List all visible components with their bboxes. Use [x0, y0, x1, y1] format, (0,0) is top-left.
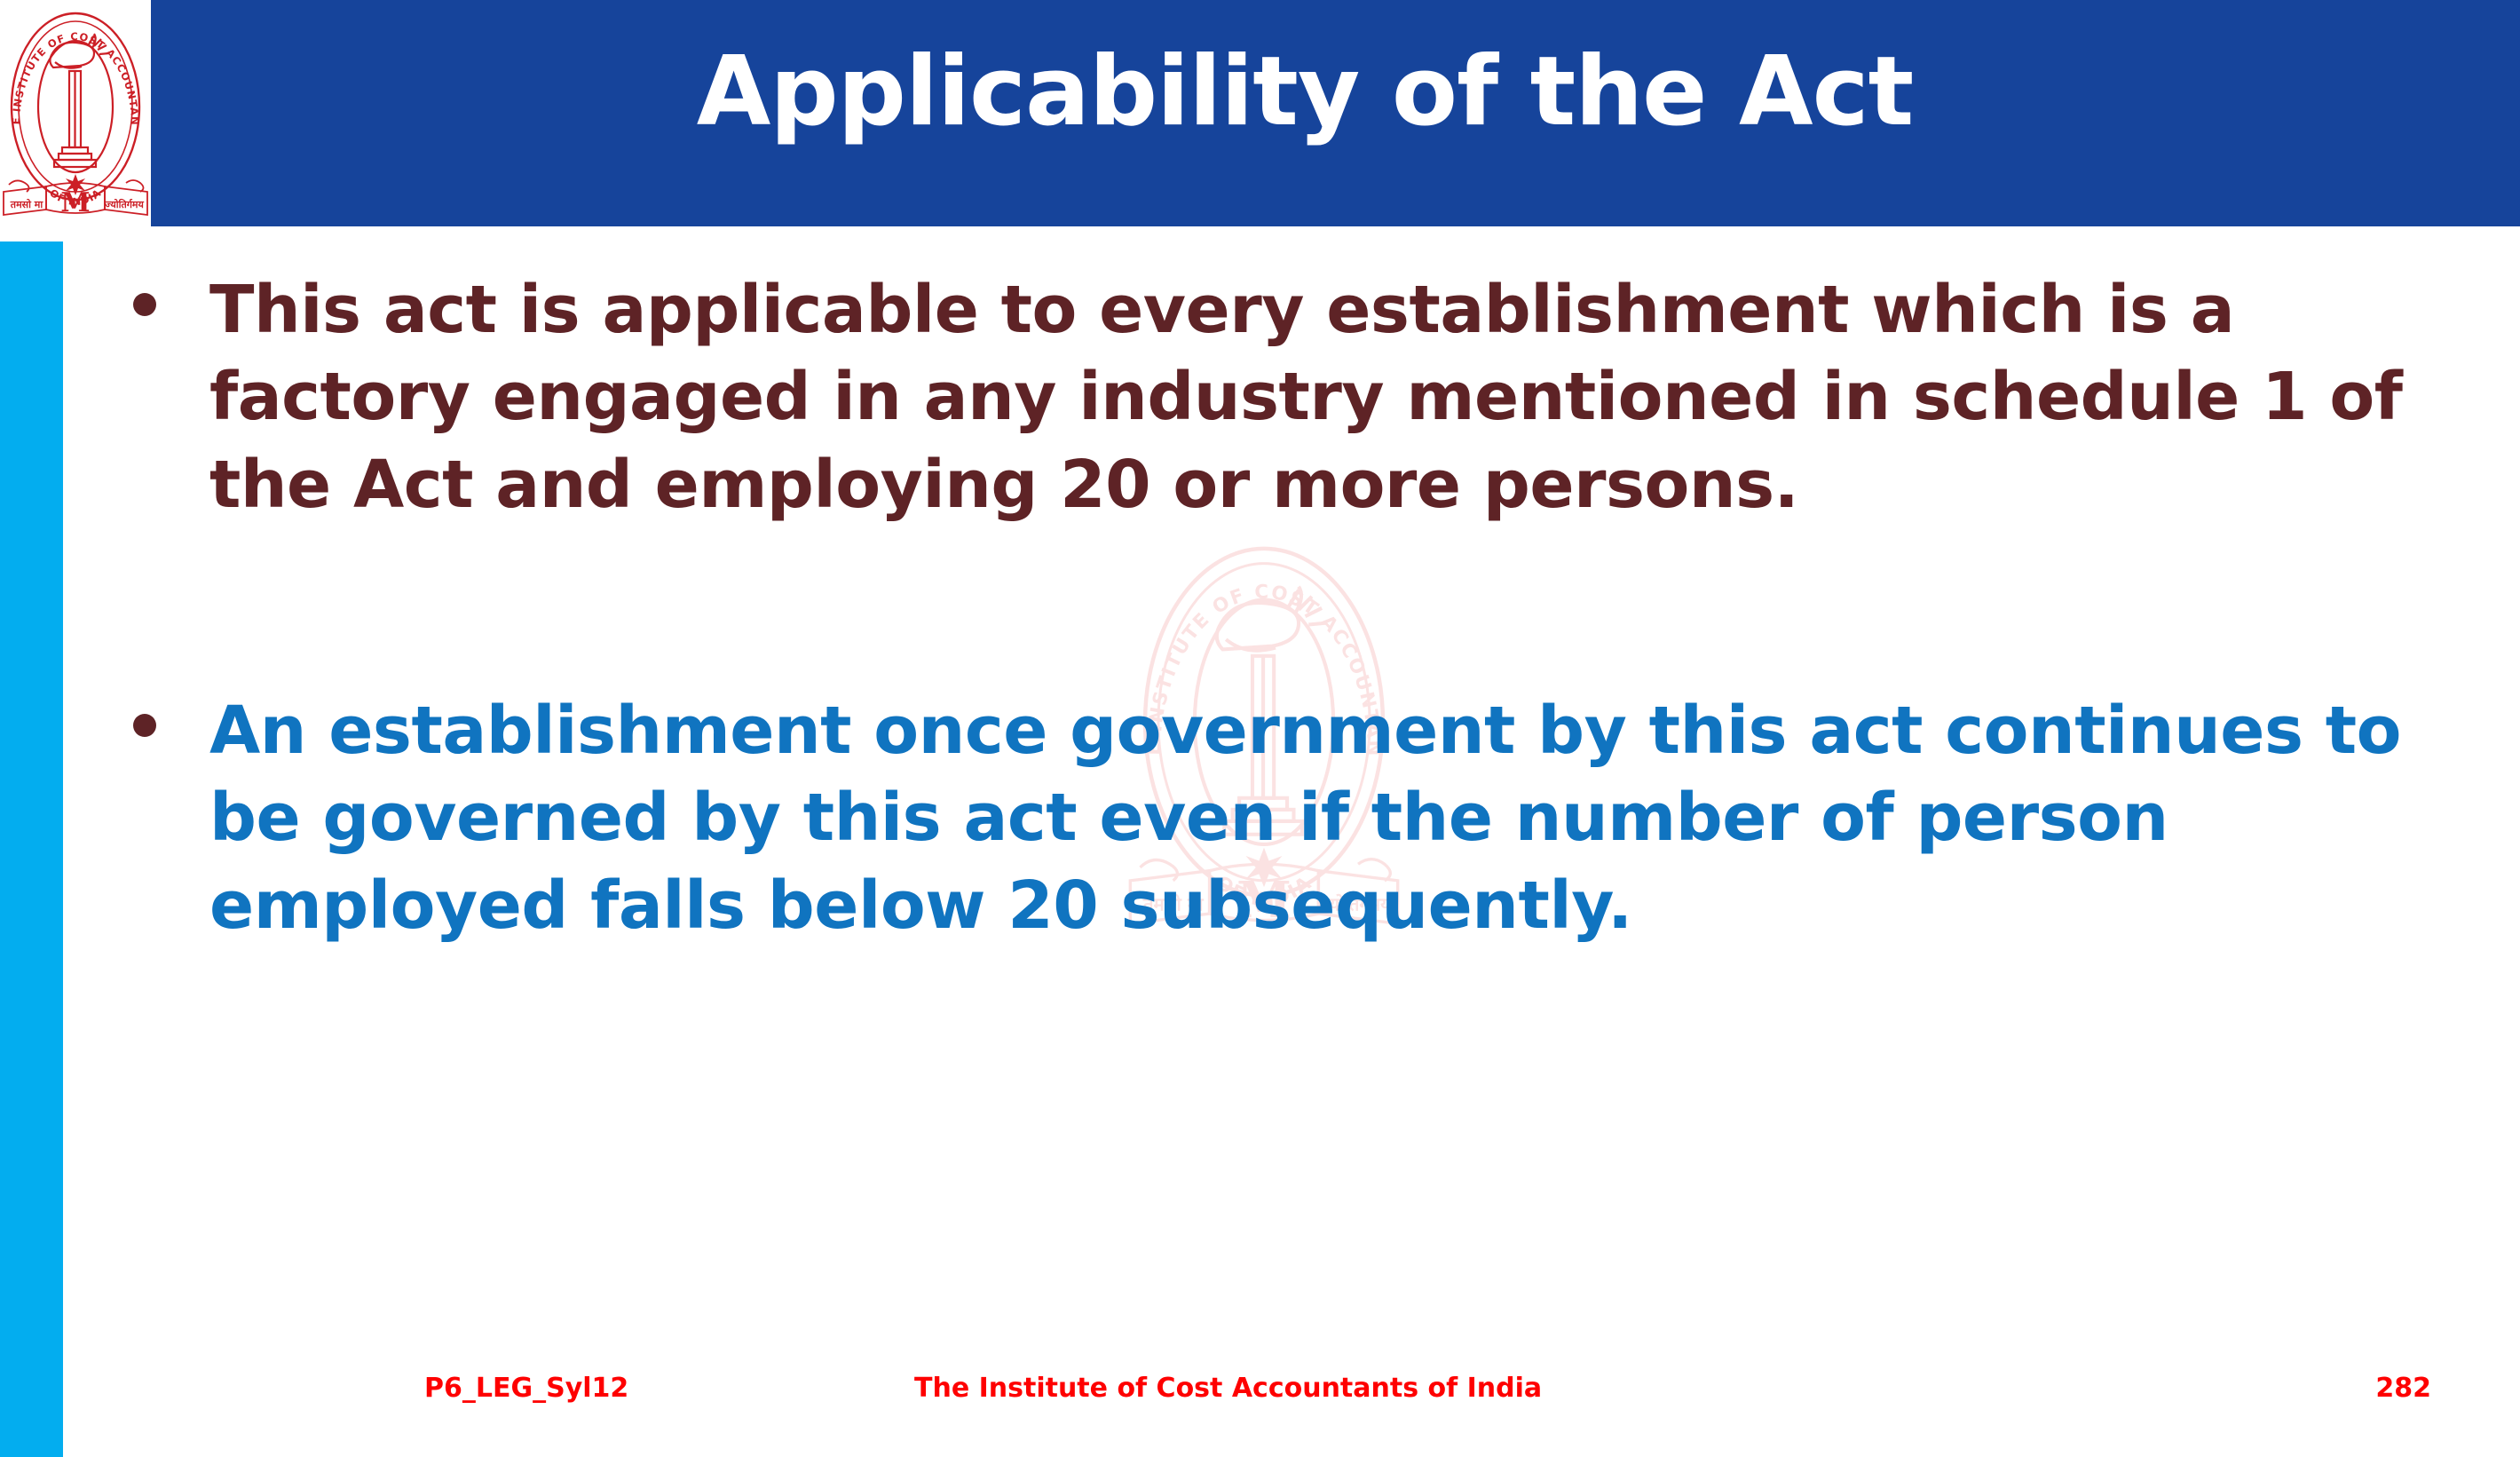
bullet-marker-icon [133, 714, 156, 737]
slide-body: This act is applicable to every establis… [133, 266, 2432, 1287]
bullet-item: This act is applicable to every establis… [133, 266, 2432, 528]
footer-organization: The Institute of Cost Accountants of Ind… [914, 1373, 1542, 1404]
institute-logo: THE INSTITUTE OF COST ACCOUNTANTS OF IND… [0, 0, 151, 229]
bullet-marker-icon [133, 293, 156, 316]
bullet-text: An establishment once government by this… [209, 687, 2432, 949]
svg-text:THE INSTITUTE OF COST ACCOUNTA: THE INSTITUTE OF COST ACCOUNTANTS [0, 0, 141, 126]
institute-logo-icon: THE INSTITUTE OF COST ACCOUNTANTS OF IND… [0, 0, 151, 229]
slide-footer: P6_LEG_Syl12 The Institute of Cost Accou… [0, 1350, 2520, 1403]
svg-text:ज्योतिर्गमय: ज्योतिर्गमय [104, 198, 144, 210]
page-title: Applicability of the Act [151, 32, 2459, 152]
svg-text:M: M [60, 187, 90, 218]
svg-text:तमसो मा: तमसो मा [10, 198, 44, 210]
footer-page-number: 282 [2375, 1373, 2431, 1404]
footer-subject-code: P6_LEG_Syl12 [424, 1373, 628, 1404]
bullet-text: This act is applicable to every establis… [209, 266, 2432, 528]
left-accent-bar [0, 242, 63, 1457]
bullet-item: An establishment once government by this… [133, 687, 2432, 949]
